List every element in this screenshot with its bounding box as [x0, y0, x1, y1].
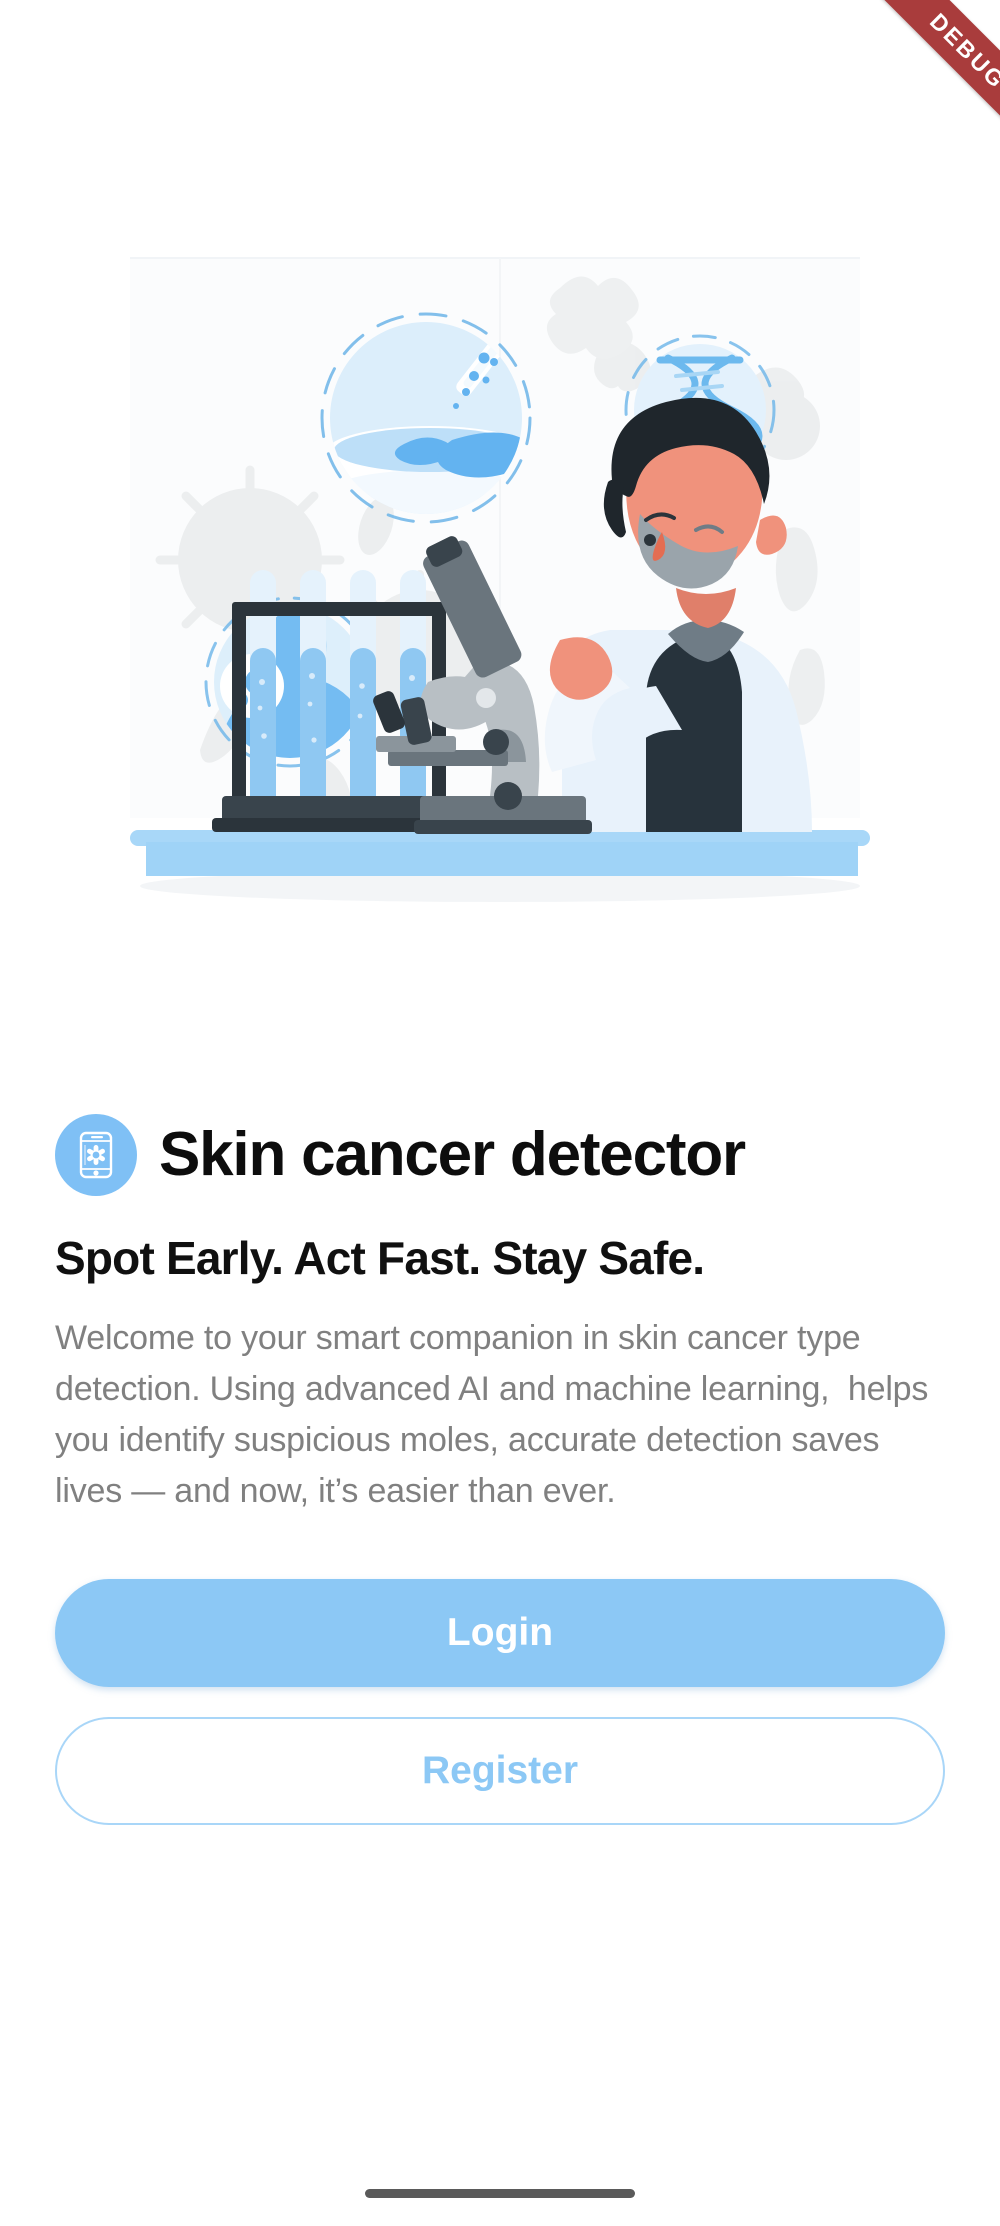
register-button[interactable]: Register — [55, 1717, 945, 1825]
home-indicator-bar[interactable] — [365, 2189, 635, 2198]
debug-banner-label: DEBUG — [925, 8, 1000, 95]
welcome-content: Skin cancer detector Spot Early. Act Fas… — [0, 1100, 1000, 1825]
login-button[interactable]: Login — [55, 1579, 945, 1687]
lab-desk — [130, 830, 870, 902]
auth-button-group: Login Register — [55, 1579, 945, 1825]
description-text: Welcome to your smart companion in skin … — [55, 1313, 945, 1517]
app-title-row: Skin cancer detector — [55, 1100, 945, 1210]
mobile-medical-icon — [55, 1114, 137, 1196]
background-plus-microbe — [547, 276, 639, 358]
hero-illustration — [0, 230, 1000, 950]
page-title: Skin cancer detector — [159, 1124, 745, 1186]
debug-banner-band: DEBUG — [803, 0, 1000, 216]
welcome-screen: DEBUG — [0, 0, 1000, 2226]
tagline: Spot Early. Act Fast. Stay Safe. — [55, 1232, 945, 1285]
